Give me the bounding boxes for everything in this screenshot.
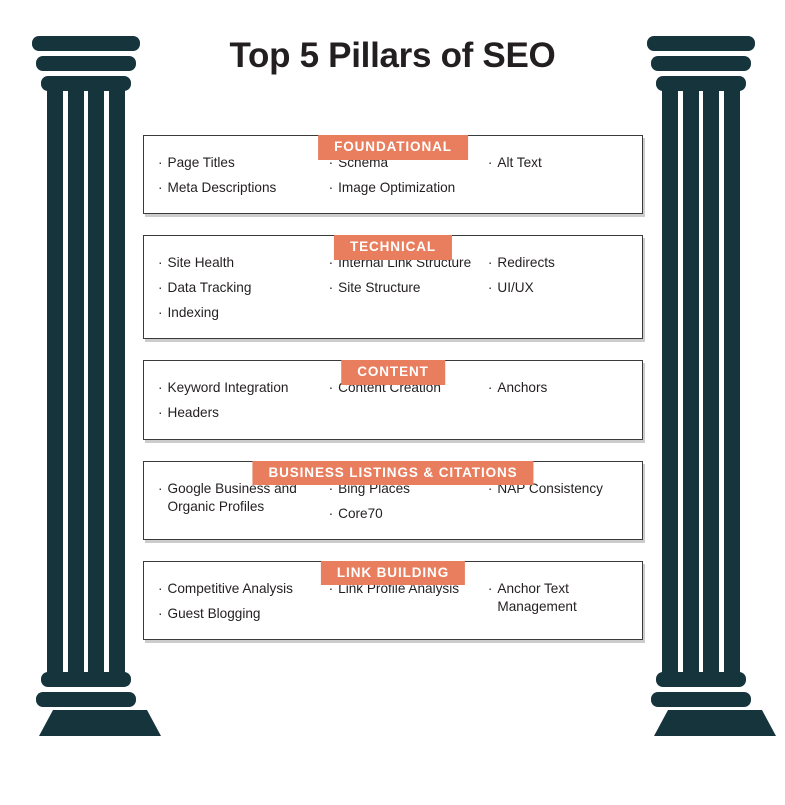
- pillar-section: CONTENT·Keyword Integration·Headers·Cont…: [143, 360, 643, 439]
- list-item-label: Meta Descriptions: [168, 179, 323, 197]
- pillar-flute: [724, 88, 740, 676]
- bullet-icon: ·: [488, 580, 493, 598]
- list-item: ·Indexing: [158, 304, 323, 322]
- page-title: Top 5 Pillars of SEO: [0, 36, 785, 76]
- list-item: ·Anchors: [488, 379, 626, 397]
- list-item: ·Competitive Analysis: [158, 580, 323, 598]
- bullet-icon: ·: [158, 605, 163, 623]
- pillar-flute: [662, 88, 678, 676]
- section-columns: ·Competitive Analysis·Guest Blogging·Lin…: [158, 580, 632, 623]
- bullet-icon: ·: [158, 580, 163, 598]
- list-item-label: Anchor Text Management: [497, 580, 626, 616]
- pillar-flute: [88, 88, 104, 676]
- bullet-icon: ·: [158, 279, 163, 297]
- section-columns: ·Site Health·Data Tracking·Indexing·Inte…: [158, 254, 632, 322]
- pillar-plinth: [39, 710, 161, 736]
- section-badge: BUSINESS LISTINGS & CITATIONS: [252, 461, 533, 486]
- pillar-shaft: [662, 88, 740, 676]
- list-item: ·Core70: [329, 505, 482, 523]
- bullet-icon: ·: [488, 154, 493, 172]
- pillar-flute: [47, 88, 63, 676]
- section-column: ·Site Health·Data Tracking·Indexing: [158, 254, 329, 322]
- bullet-icon: ·: [329, 379, 334, 397]
- pillar-flute: [683, 88, 699, 676]
- section-column: ·Schema·Image Optimization: [329, 154, 488, 197]
- section-badge: CONTENT: [341, 360, 445, 385]
- list-item-label: Image Optimization: [338, 179, 482, 197]
- section-badge: FOUNDATIONAL: [318, 135, 468, 160]
- section-columns: ·Keyword Integration·Headers·Content Cre…: [158, 379, 632, 422]
- bullet-icon: ·: [158, 480, 163, 498]
- list-item-label: Core70: [338, 505, 482, 523]
- list-item: ·Alt Text: [488, 154, 626, 172]
- list-item: ·Site Health: [158, 254, 323, 272]
- pillar-section: LINK BUILDING·Competitive Analysis·Guest…: [143, 561, 643, 640]
- list-item-label: Anchors: [497, 379, 626, 397]
- pillar-plinth: [654, 710, 776, 736]
- bullet-icon: ·: [329, 254, 334, 272]
- list-item: ·Guest Blogging: [158, 605, 323, 623]
- pillar-flute: [109, 88, 125, 676]
- section-column: ·Bing Places·Core70: [329, 480, 488, 523]
- bullet-icon: ·: [488, 279, 493, 297]
- section-column: ·Keyword Integration·Headers: [158, 379, 329, 422]
- section-badge: LINK BUILDING: [321, 561, 465, 586]
- list-item-label: Site Structure: [338, 279, 482, 297]
- section-column: ·Alt Text: [488, 154, 632, 172]
- infographic-canvas: Top 5 Pillars of SEO FOUNDATIONAL·Page T…: [0, 0, 785, 805]
- list-item-label: UI/UX: [497, 279, 626, 297]
- bullet-icon: ·: [158, 404, 163, 422]
- list-item-label: Competitive Analysis: [168, 580, 323, 598]
- pillar-base-bar-bottom: [36, 692, 136, 707]
- pillar-shaft: [47, 88, 125, 676]
- bullet-icon: ·: [329, 505, 334, 523]
- list-item-label: Keyword Integration: [168, 379, 323, 397]
- list-item: ·Data Tracking: [158, 279, 323, 297]
- list-item: ·Site Structure: [329, 279, 482, 297]
- list-item-label: Data Tracking: [168, 279, 323, 297]
- pillar-base-bar-top: [41, 672, 131, 687]
- section-column: ·Anchor Text Management: [488, 580, 632, 616]
- left-pillar-graphic: [25, 36, 147, 764]
- list-item-label: Page Titles: [168, 154, 323, 172]
- section-columns: ·Page Titles·Meta Descriptions·Schema·Im…: [158, 154, 632, 197]
- list-item-label: Alt Text: [497, 154, 626, 172]
- section-columns: ·Google Business and Organic Profiles·Bi…: [158, 480, 632, 523]
- list-item-label: Site Health: [168, 254, 323, 272]
- list-item: ·Anchor Text Management: [488, 580, 626, 616]
- bullet-icon: ·: [488, 254, 493, 272]
- section-column: ·Competitive Analysis·Guest Blogging: [158, 580, 329, 623]
- pillar-section: FOUNDATIONAL·Page Titles·Meta Descriptio…: [143, 135, 643, 214]
- section-column: ·Internal Link Structure·Site Structure: [329, 254, 488, 297]
- list-item: ·UI/UX: [488, 279, 626, 297]
- pillar-section: TECHNICAL·Site Health·Data Tracking·Inde…: [143, 235, 643, 339]
- list-item: ·Headers: [158, 404, 323, 422]
- bullet-icon: ·: [158, 179, 163, 197]
- list-item: ·Redirects: [488, 254, 626, 272]
- pillar-flute: [703, 88, 719, 676]
- pillars-section-list: FOUNDATIONAL·Page Titles·Meta Descriptio…: [143, 122, 643, 661]
- list-item: ·Page Titles: [158, 154, 323, 172]
- pillar-flute: [68, 88, 84, 676]
- pillar-base-bar-top: [656, 672, 746, 687]
- right-pillar-graphic: [640, 36, 762, 764]
- list-item: ·Keyword Integration: [158, 379, 323, 397]
- bullet-icon: ·: [329, 279, 334, 297]
- section-column: ·Page Titles·Meta Descriptions: [158, 154, 329, 197]
- section-badge: TECHNICAL: [334, 235, 452, 260]
- list-item: ·Image Optimization: [329, 179, 482, 197]
- list-item-label: Redirects: [497, 254, 626, 272]
- bullet-icon: ·: [158, 254, 163, 272]
- section-column: ·Anchors: [488, 379, 632, 397]
- list-item-label: Headers: [168, 404, 323, 422]
- list-item-label: Indexing: [168, 304, 323, 322]
- bullet-icon: ·: [158, 304, 163, 322]
- section-column: ·Redirects·UI/UX: [488, 254, 632, 297]
- list-item: ·Meta Descriptions: [158, 179, 323, 197]
- list-item-label: Guest Blogging: [168, 605, 323, 623]
- bullet-icon: ·: [329, 179, 334, 197]
- bullet-icon: ·: [158, 379, 163, 397]
- bullet-icon: ·: [488, 379, 493, 397]
- bullet-icon: ·: [158, 154, 163, 172]
- pillar-base-bar-bottom: [651, 692, 751, 707]
- pillar-section: BUSINESS LISTINGS & CITATIONS·Google Bus…: [143, 461, 643, 540]
